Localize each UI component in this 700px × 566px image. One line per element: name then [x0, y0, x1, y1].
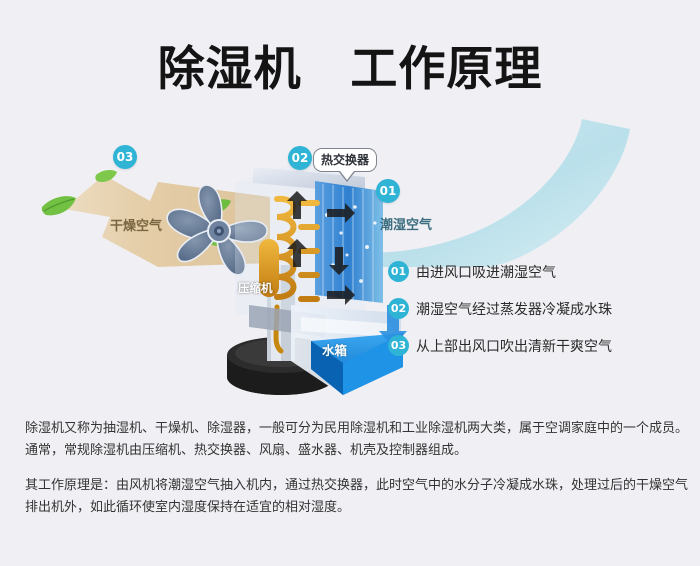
description-text: 除湿机又称为抽湿机、干燥机、除湿器，一般可分为民用除湿机和工业除湿机两大类，属于… [25, 418, 680, 519]
legend-text-02: 潮湿空气经过蒸发器冷凝成水珠 [416, 299, 612, 319]
leaf-icon [95, 170, 117, 182]
paragraph2-line2: 排出机外，如此循环使室内湿度保持在适宜的相对湿度。 [25, 497, 680, 519]
legend-badge-03: 03 [388, 335, 409, 356]
steps-legend: 01 由进风口吸进潮湿空气 02 潮湿空气经过蒸发器冷凝成水珠 03 从上部出风… [388, 253, 688, 364]
paragraph-spacer [25, 462, 680, 475]
legend-badge-02: 02 [388, 298, 409, 319]
label-humid-air: 潮湿空气 [380, 214, 432, 233]
badge-step-02-diagram: 02 [288, 146, 312, 170]
page-title: 除湿机 工作原理 [0, 30, 700, 99]
legend-item-03: 03 从上部出风口吹出清新干爽空气 [388, 327, 688, 364]
legend-text-03: 从上部出风口吹出清新干爽空气 [416, 336, 612, 356]
page-title-part2: 工作原理 [350, 42, 542, 97]
page-title-part1: 除湿机 [158, 42, 302, 97]
paragraph2-line1: 其工作原理是：由风机将潮湿空气抽入机内，通过热交换器，此时空气中的水分子冷凝成水… [25, 475, 680, 497]
legend-item-02: 02 潮湿空气经过蒸发器冷凝成水珠 [388, 290, 688, 327]
legend-badge-01: 01 [388, 261, 409, 282]
label-dry-air: 干燥空气 [110, 215, 162, 234]
legend-text-01: 由进风口吸进潮湿空气 [416, 262, 556, 282]
label-compressor: 压缩机 [238, 280, 273, 296]
callout-heat-exchanger: 热交换器 [313, 148, 377, 172]
paragraph1-line2: 通常，常规除湿机由压缩机、热交换器、风扇、盛水器、机壳及控制器组成。 [25, 440, 680, 462]
badge-step-01-diagram: 01 [376, 179, 400, 203]
paragraph1-line1: 除湿机又称为抽湿机、干燥机、除湿器，一般可分为民用除湿机和工业除湿机两大类，属于… [25, 418, 680, 440]
leaf-icon [42, 196, 76, 215]
legend-item-01: 01 由进风口吸进潮湿空气 [388, 253, 688, 290]
dehumidifier-infographic-page: 除湿机 工作原理 [0, 0, 700, 566]
label-water-tank: 水箱 [322, 340, 347, 359]
badge-step-03-diagram: 03 [113, 145, 137, 169]
